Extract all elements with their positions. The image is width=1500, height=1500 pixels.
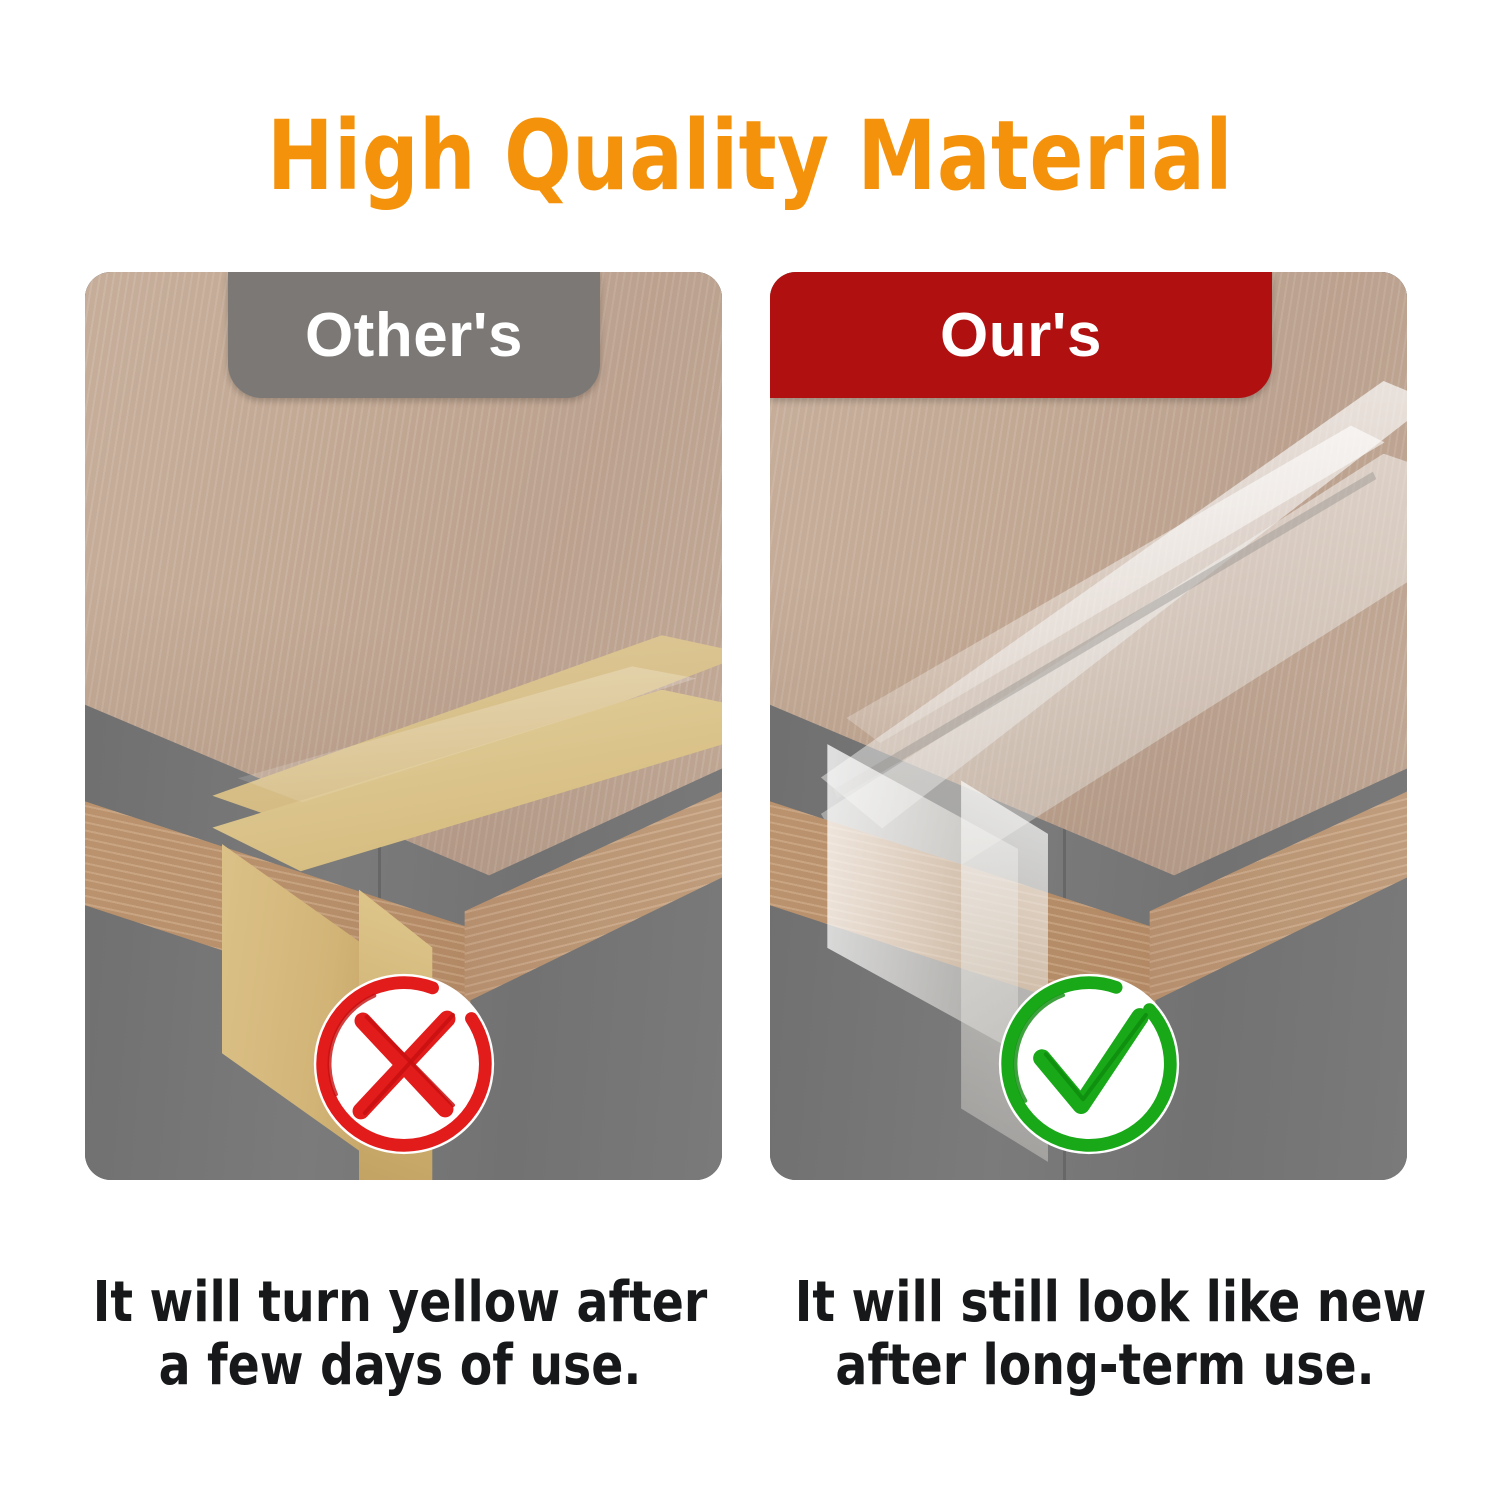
page-title: High Quality Material <box>60 104 1440 210</box>
comparison-row: Other's <box>85 272 1415 1180</box>
caption-others-line-1: It will turn yellow after <box>90 1272 710 1335</box>
infographic-page: High Quality Material Other's <box>0 0 1500 1500</box>
caption-ours-line-1: It will still look like new <box>795 1272 1415 1335</box>
comparison-panel-ours: Our's <box>770 272 1407 1180</box>
caption-others: It will turn yellow after a few days of … <box>90 1272 710 1397</box>
comparison-panel-others: Other's <box>85 272 722 1180</box>
caption-ours-line-2: after long-term use. <box>795 1335 1415 1398</box>
caption-others-line-2: a few days of use. <box>90 1335 710 1398</box>
check-mark-icon <box>991 966 1187 1162</box>
caption-ours: It will still look like new after long-t… <box>795 1272 1415 1397</box>
cross-mark-icon <box>306 966 502 1162</box>
badge-others: Other's <box>228 272 600 398</box>
badge-ours: Our's <box>770 272 1272 398</box>
